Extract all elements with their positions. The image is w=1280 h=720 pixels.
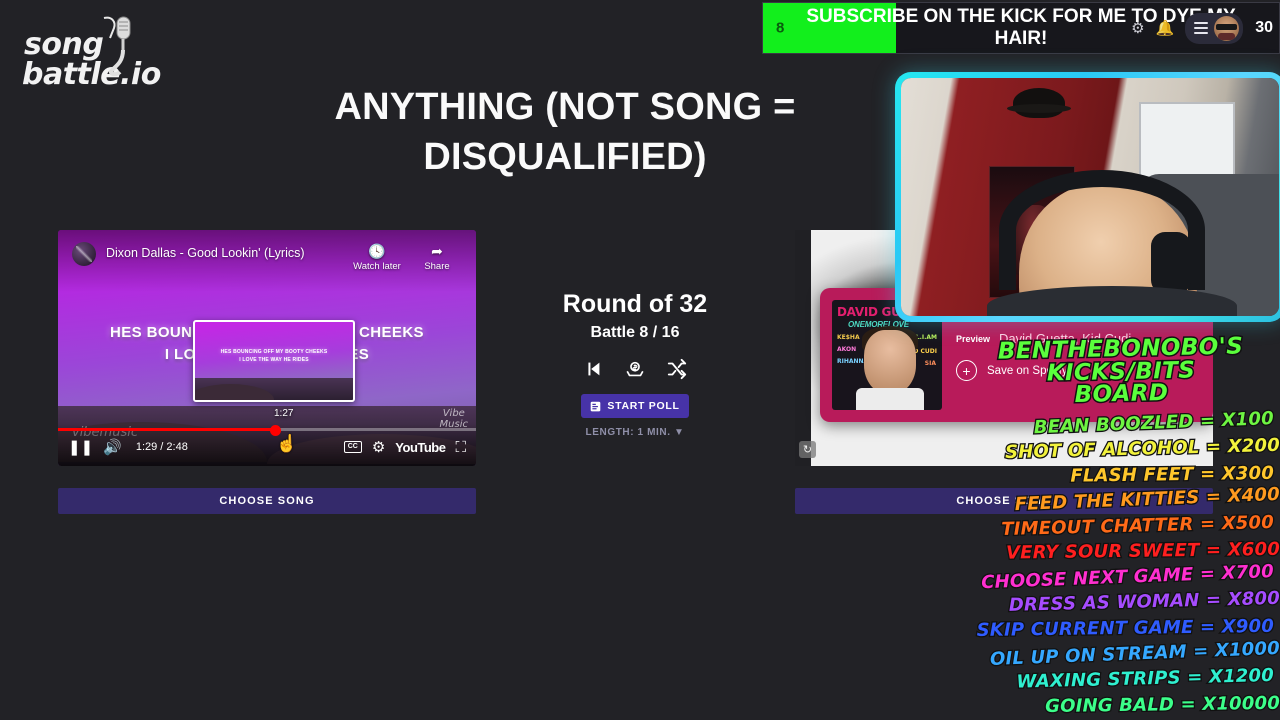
seek-preview-thumbnail: HES BOUNCING OFF MY BOOTY CHEEKS I LOVE … <box>193 320 355 402</box>
progress-played <box>58 428 275 431</box>
poll-length-selector[interactable]: LENGTH: 1 MIN. ▼ <box>505 427 765 438</box>
seek-preview-lyrics-1: HES BOUNCING OFF MY BOOTY CHEEKS <box>195 348 353 356</box>
site-logo[interactable]: song battle.io <box>18 14 198 94</box>
start-poll-button[interactable]: START POLL <box>581 394 689 418</box>
board-item: DRESS AS WOMAN = X800 <box>962 586 1280 620</box>
refresh-icon[interactable]: ↻ <box>799 441 816 458</box>
viewer-count: 30 <box>1255 19 1273 37</box>
user-avatar[interactable] <box>1214 16 1239 41</box>
watch-later-label: Watch later <box>353 261 401 272</box>
banner-controls: ⚙ 🔔 30 <box>1131 3 1273 53</box>
time-display: 1:29 / 2:48 <box>136 441 188 453</box>
board-item: SKIP CURRENT GAME = X900 <box>962 614 1274 644</box>
board-item: VERY SOUR SWEET = X600 <box>962 537 1280 567</box>
board-item: WAXING STRIPS = X1200 <box>962 663 1275 697</box>
share-button[interactable]: ➦ Share <box>412 242 462 272</box>
video-header: Dixon Dallas - Good Lookin' (Lyrics) 🕓 W… <box>58 230 476 292</box>
plus-icon: + <box>956 360 977 381</box>
album-artist-1: KE$HA <box>837 334 860 341</box>
webcam-hat <box>1013 88 1065 118</box>
save-on-spotify-label: Save on Spotify <box>987 365 1068 377</box>
captions-button[interactable]: CC <box>344 441 362 453</box>
spotify-artists: David Guetta, Kid Cudi <box>999 331 1131 346</box>
streamer-webcam[interactable] <box>895 72 1280 322</box>
bid-money-icon[interactable] <box>624 358 646 380</box>
album-artist-6: SIA <box>925 360 936 367</box>
poll-icon <box>590 401 601 412</box>
album-art-face <box>864 330 916 394</box>
hamburger-menu-icon[interactable] <box>1194 22 1208 34</box>
left-gutter <box>795 230 811 466</box>
shuffle-icon[interactable] <box>666 358 688 380</box>
youtube-logo[interactable]: YouTube <box>395 440 445 455</box>
seek-preview-lyrics-2: I LOVE THE WAY HE RIDES <box>195 356 353 364</box>
gear-icon[interactable]: ⚙ <box>1131 19 1144 37</box>
round-label: Round of 32 <box>505 290 765 319</box>
watch-later-button[interactable]: 🕓 Watch later <box>352 242 402 272</box>
channel-avatar <box>72 242 96 266</box>
fullscreen-icon[interactable]: ⛶ <box>455 440 466 455</box>
pause-button[interactable]: ❚❚ <box>68 440 93 455</box>
webcam-feed <box>901 78 1279 316</box>
battle-action-icons <box>505 358 765 380</box>
board-item: OIL UP ON STREAM = X1000 <box>962 635 1280 673</box>
board-item: CHOOSE NEXT GAME = X700 <box>962 559 1275 597</box>
webcam-headphone-cup <box>1151 232 1191 294</box>
start-poll-label: START POLL <box>607 400 679 412</box>
volume-icon[interactable]: 🔊 <box>103 440 122 455</box>
logo-line-1: song <box>24 30 103 60</box>
spotify-preview-label: Preview <box>956 334 990 344</box>
player-control-bar: ☝ ❚❚ 🔊 1:29 / 2:48 CC ⚙ YouTube ⛶ <box>58 424 476 466</box>
choose-song-button-right[interactable]: CHOOSE SONG <box>795 488 1213 514</box>
progress-bar[interactable] <box>58 428 476 431</box>
video-title[interactable]: Dixon Dallas - Good Lookin' (Lyrics) <box>106 242 342 260</box>
seek-preview-lyrics: HES BOUNCING OFF MY BOOTY CHEEKS I LOVE … <box>195 348 353 364</box>
board-item: TIMEOUT CHATTER = X500 <box>962 510 1275 544</box>
share-label: Share <box>424 261 449 272</box>
album-art-shirt <box>856 388 924 410</box>
avatar-sunglasses <box>1216 24 1237 30</box>
avatar-beard <box>1218 33 1235 40</box>
bell-icon[interactable]: 🔔 <box>1156 19 1175 37</box>
share-arrow-icon: ➦ <box>412 243 462 259</box>
sub-goal-counter: 8 <box>776 20 784 37</box>
stream-top-banner: 8 SUBSCRIBE ON THE KICK FOR ME TO DYE MY… <box>762 2 1280 54</box>
battle-info-panel: Round of 32 Battle 8 / 16 START POLL LEN… <box>505 290 765 438</box>
board-item: GOING BALD = X10000 <box>962 690 1280 720</box>
choose-song-button-left[interactable]: CHOOSE SONG <box>58 488 476 514</box>
seek-preview-scenery <box>195 378 353 400</box>
seek-preview-time: 1:27 <box>274 408 293 419</box>
save-on-spotify-button[interactable]: + Save on Spotify <box>956 360 1201 381</box>
skip-back-icon[interactable] <box>582 358 604 380</box>
left-youtube-player[interactable]: Dixon Dallas - Good Lookin' (Lyrics) 🕓 W… <box>58 230 476 466</box>
account-menu[interactable] <box>1185 13 1243 44</box>
microphone-icon <box>96 14 142 76</box>
settings-gear-icon[interactable]: ⚙ <box>372 440 385 455</box>
left-song-panel: Dixon Dallas - Good Lookin' (Lyrics) 🕓 W… <box>58 230 476 514</box>
battle-label: Battle 8 / 16 <box>505 324 765 342</box>
page-title: ANYTHING (NOT SONG = DISQUALIFIED) <box>240 82 890 182</box>
sub-goal-progress: 8 <box>763 3 896 53</box>
album-artist-2: AKON <box>837 346 856 353</box>
clock-icon: 🕓 <box>352 243 402 259</box>
